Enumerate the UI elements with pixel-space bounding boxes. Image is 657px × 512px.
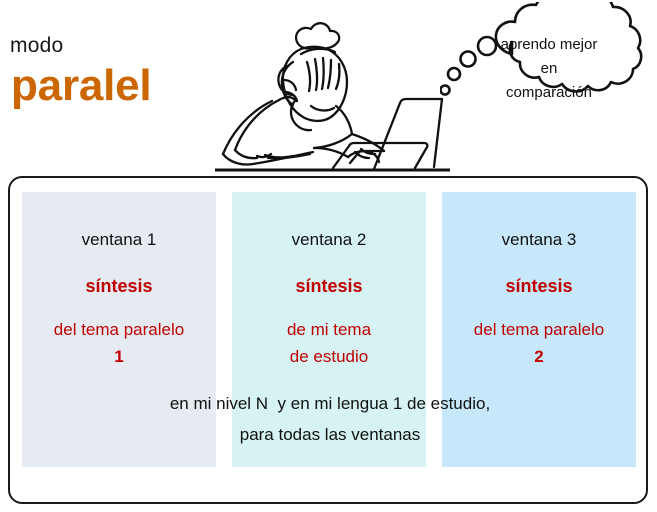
page-title: paralel: [11, 61, 151, 111]
detail-text-3: del tema paralelo 2: [442, 316, 636, 370]
thought-bubble-line-2: en: [468, 57, 630, 81]
synthesis-label-3: síntesis: [442, 276, 636, 297]
detail-line-1b: 1: [22, 343, 216, 370]
windows-columns: ventana 1 síntesis del tema paralelo 1 v…: [22, 192, 636, 467]
detail-text-2: de mi tema de estudio: [232, 316, 426, 370]
thought-bubble-text: aprendo mejor en comparación: [468, 33, 630, 105]
window-column-2[interactable]: ventana 2 síntesis de mi tema de estudio: [232, 192, 426, 467]
thought-bubble-line-3: comparación: [468, 81, 630, 105]
window-label-3: ventana 3: [442, 230, 636, 250]
page-kicker: modo: [10, 34, 63, 58]
thought-bubble-line-1: aprendo mejor: [468, 33, 630, 57]
detail-line-1a: del tema paralelo: [22, 316, 216, 343]
header: modo paralel: [0, 0, 657, 172]
detail-line-3b: 2: [442, 343, 636, 370]
detail-text-1: del tema paralelo 1: [22, 316, 216, 370]
detail-line-3a: del tema paralelo: [442, 316, 636, 343]
detail-line-2b: de estudio: [232, 343, 426, 370]
window-label-2: ventana 2: [232, 230, 426, 250]
synthesis-label-1: síntesis: [22, 276, 216, 297]
window-column-3[interactable]: ventana 3 síntesis del tema paralelo 2: [442, 192, 636, 467]
window-column-1[interactable]: ventana 1 síntesis del tema paralelo 1: [22, 192, 216, 467]
detail-line-2a: de mi tema: [232, 316, 426, 343]
person-studying-at-laptop-illustration: [215, 2, 450, 174]
window-label-1: ventana 1: [22, 230, 216, 250]
synthesis-label-2: síntesis: [232, 276, 426, 297]
parallel-mode-panel: ventana 1 síntesis del tema paralelo 1 v…: [8, 176, 648, 504]
